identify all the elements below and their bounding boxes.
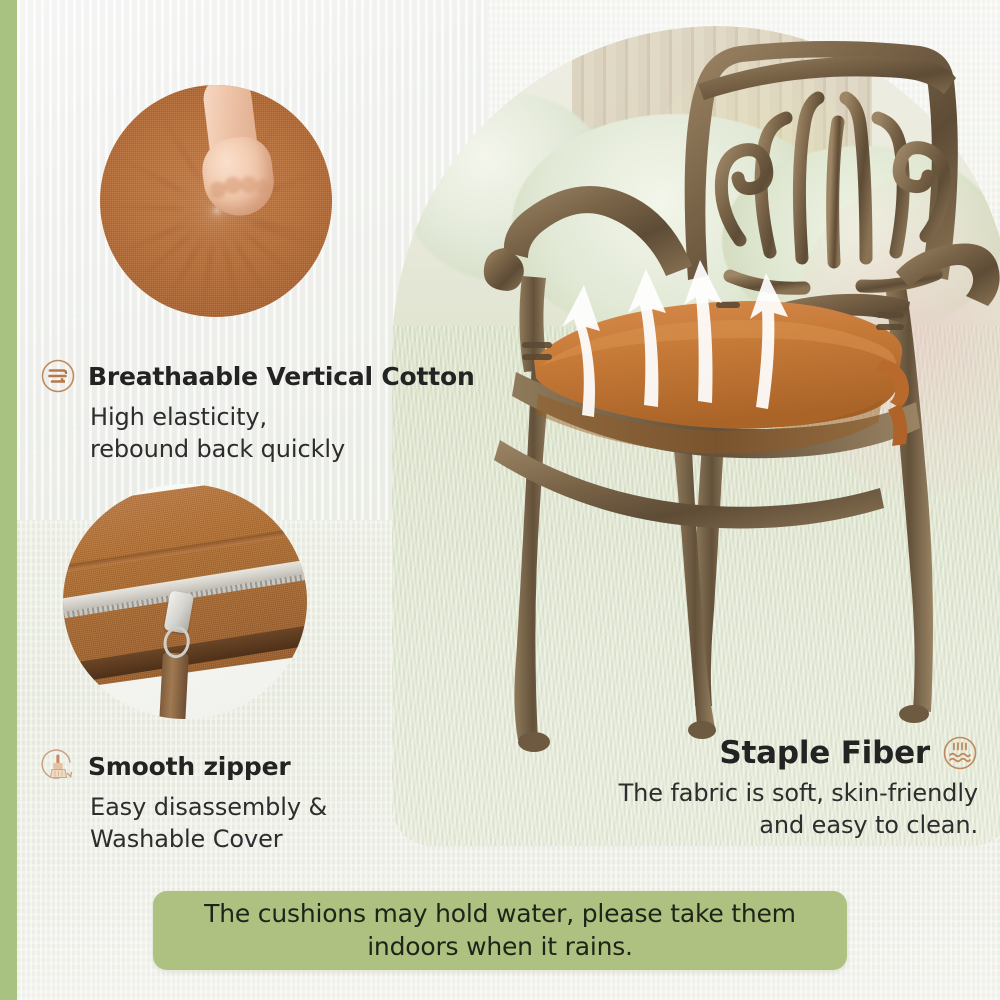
feature-staple-fiber: Staple Fiber The fabric is soft, skin-fr… <box>619 735 978 842</box>
feature-description-line: and easy to clean. <box>619 809 978 841</box>
feature-description-line: High elasticity, <box>90 401 475 433</box>
feature-description-line: Easy disassembly & <box>90 791 327 823</box>
feature-description: High elasticity, rebound back quickly <box>90 401 475 466</box>
hand-pressing-cushion-photo <box>100 85 332 317</box>
left-accent-bar <box>0 0 17 1000</box>
knuckles <box>209 170 273 211</box>
cushion-zipper-closeup-photo <box>63 484 307 719</box>
feature-description-line: Washable Cover <box>90 823 327 855</box>
feature-breathable-cotton: Breathaable Vertical Cotton High elastic… <box>40 358 475 466</box>
washable-fabric-care-icon <box>942 735 978 771</box>
feature-description-line: The fabric is soft, skin-friendly <box>619 777 978 809</box>
feature-heading-row: Smooth zipper <box>40 748 327 784</box>
feature-heading-row: Breathaable Vertical Cotton <box>40 358 475 394</box>
care-notice-line: The cushions may hold water, please take… <box>204 898 796 931</box>
patio-chair-photo <box>430 30 1000 770</box>
chair-leg-behind <box>159 653 189 719</box>
feature-heading-row: Staple Fiber <box>619 735 978 771</box>
breathable-airflow-icon <box>40 358 76 394</box>
feature-title: Smooth zipper <box>88 752 290 781</box>
feature-description-line: rebound back quickly <box>90 433 475 465</box>
feature-smooth-zipper: Smooth zipper Easy disassembly & Washabl… <box>40 748 327 856</box>
care-notice-text: The cushions may hold water, please take… <box>186 898 814 963</box>
feature-description: The fabric is soft, skin-friendly and ea… <box>619 777 978 842</box>
feature-description: Easy disassembly & Washable Cover <box>90 791 327 856</box>
feature-title: Breathaable Vertical Cotton <box>88 362 475 391</box>
care-notice-banner: The cushions may hold water, please take… <box>153 891 847 970</box>
feature-title: Staple Fiber <box>719 735 930 771</box>
cleaning-brush-icon <box>40 748 76 784</box>
care-notice-line: indoors when it rains. <box>204 931 796 964</box>
infographic-canvas: Breathaable Vertical Cotton High elastic… <box>0 0 1000 1000</box>
